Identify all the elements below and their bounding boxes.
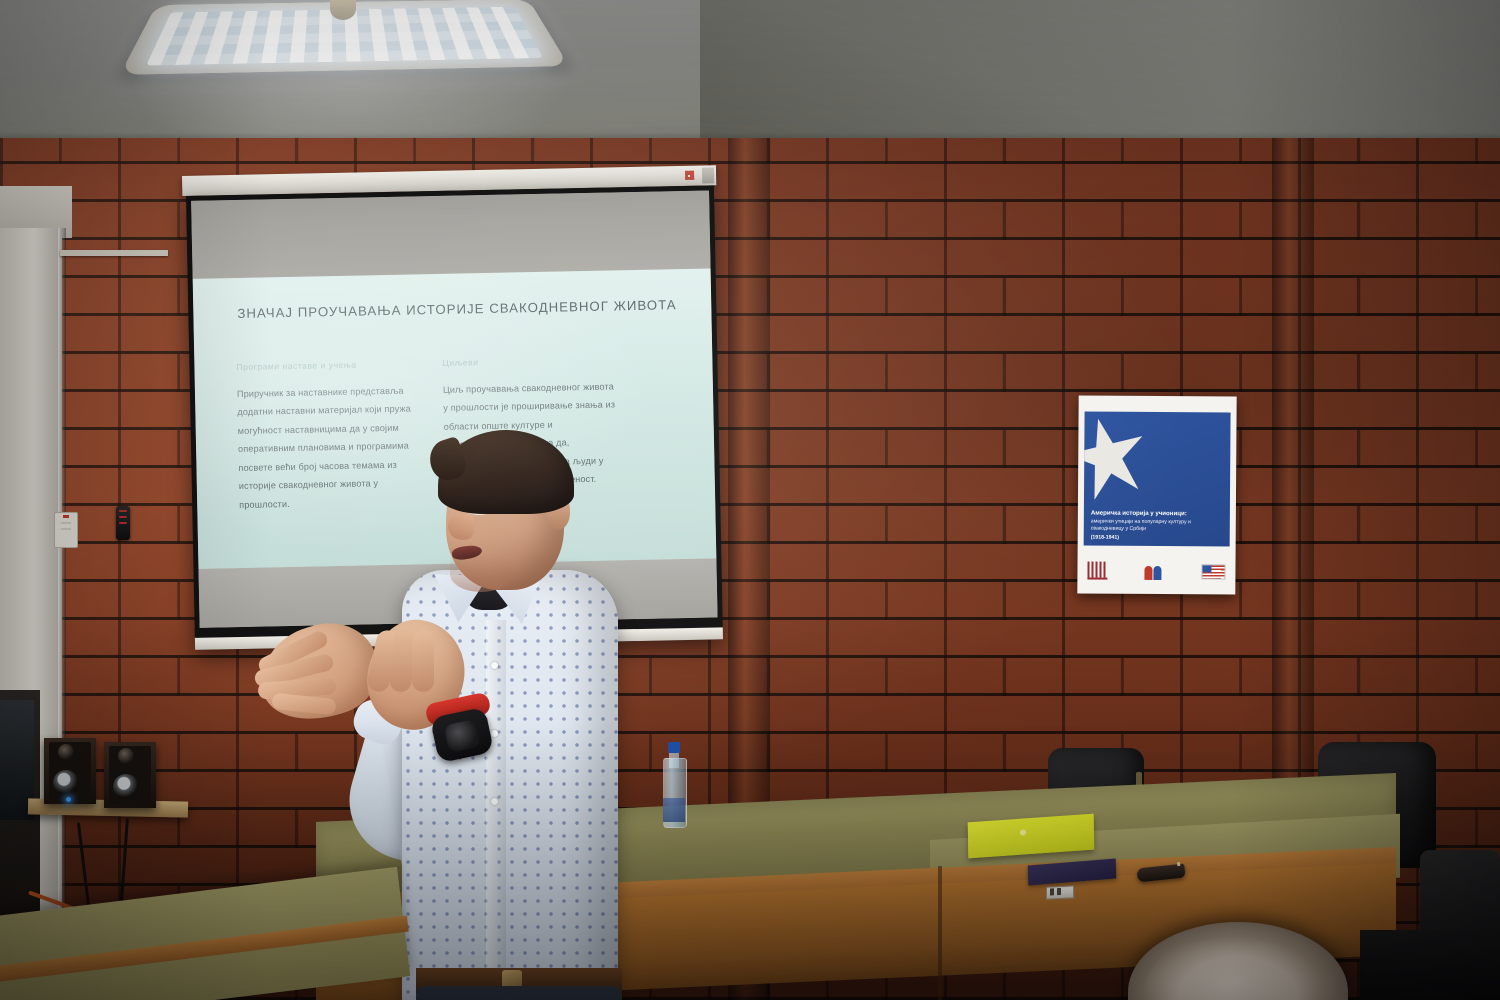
nose — [448, 514, 474, 540]
plaster-column-edge — [58, 228, 66, 928]
tweeter-icon — [58, 744, 74, 760]
poster-logo-row — [1083, 553, 1229, 588]
chin-shadow — [450, 556, 512, 592]
slide-title: ЗНАЧАЈ ПРОУЧАВАЊА ИСТОРИЈЕ СВАКОДНЕВНОГ … — [237, 297, 705, 321]
poster-blue-panel: Америчка историја у учионици: амерички у… — [1084, 411, 1231, 546]
poster-years: (1918-1941) — [1091, 535, 1224, 542]
tweeter-icon — [118, 748, 134, 764]
us-flag-icon — [1201, 564, 1225, 579]
power-outlet[interactable] — [1046, 885, 1074, 899]
wall-conduit — [60, 250, 168, 256]
power-led-indicator — [66, 797, 71, 802]
screen-unlit-top — [191, 191, 710, 279]
star-icon — [1084, 411, 1155, 503]
presenter-trousers — [416, 986, 622, 1000]
wall-poster: Америчка историја у учионици: амерички у… — [1077, 395, 1236, 594]
poster-text-block: Америчка историја у учионици: амерички у… — [1091, 510, 1224, 542]
wall-remote-control[interactable] — [116, 506, 130, 540]
watch-face — [444, 719, 481, 753]
ceiling-right-section — [700, 0, 1500, 150]
bookshelf-speaker-left — [44, 738, 96, 804]
desk-panel-seam — [938, 866, 942, 1000]
bookshelf-speaker-right — [104, 742, 156, 808]
screen-brand-logo — [685, 171, 694, 180]
lecture-hall-photo: ЗНАЧАЈ ПРОУЧАВАЊА ИСТОРИЈЕ СВАКОДНЕВНОГ … — [0, 0, 1500, 1000]
slide-column-right-heading: Циљеви — [442, 354, 620, 368]
light-switch[interactable] — [54, 512, 78, 548]
presenter-hair — [438, 430, 574, 514]
woofer-icon — [113, 774, 139, 800]
woofer-icon — [53, 770, 79, 796]
embassy-logo-icon — [1144, 562, 1164, 579]
poster-title: Америчка историја у учионици: — [1091, 510, 1224, 519]
museum-logo-icon — [1087, 562, 1107, 580]
poster-subtitle: амерички утицаји на популарну културу и … — [1091, 519, 1224, 534]
slide-column-left-heading: Програми наставе и учења — [236, 358, 414, 372]
foreground-dark-area — [1360, 930, 1500, 1000]
screen-end-cap — [702, 167, 714, 183]
